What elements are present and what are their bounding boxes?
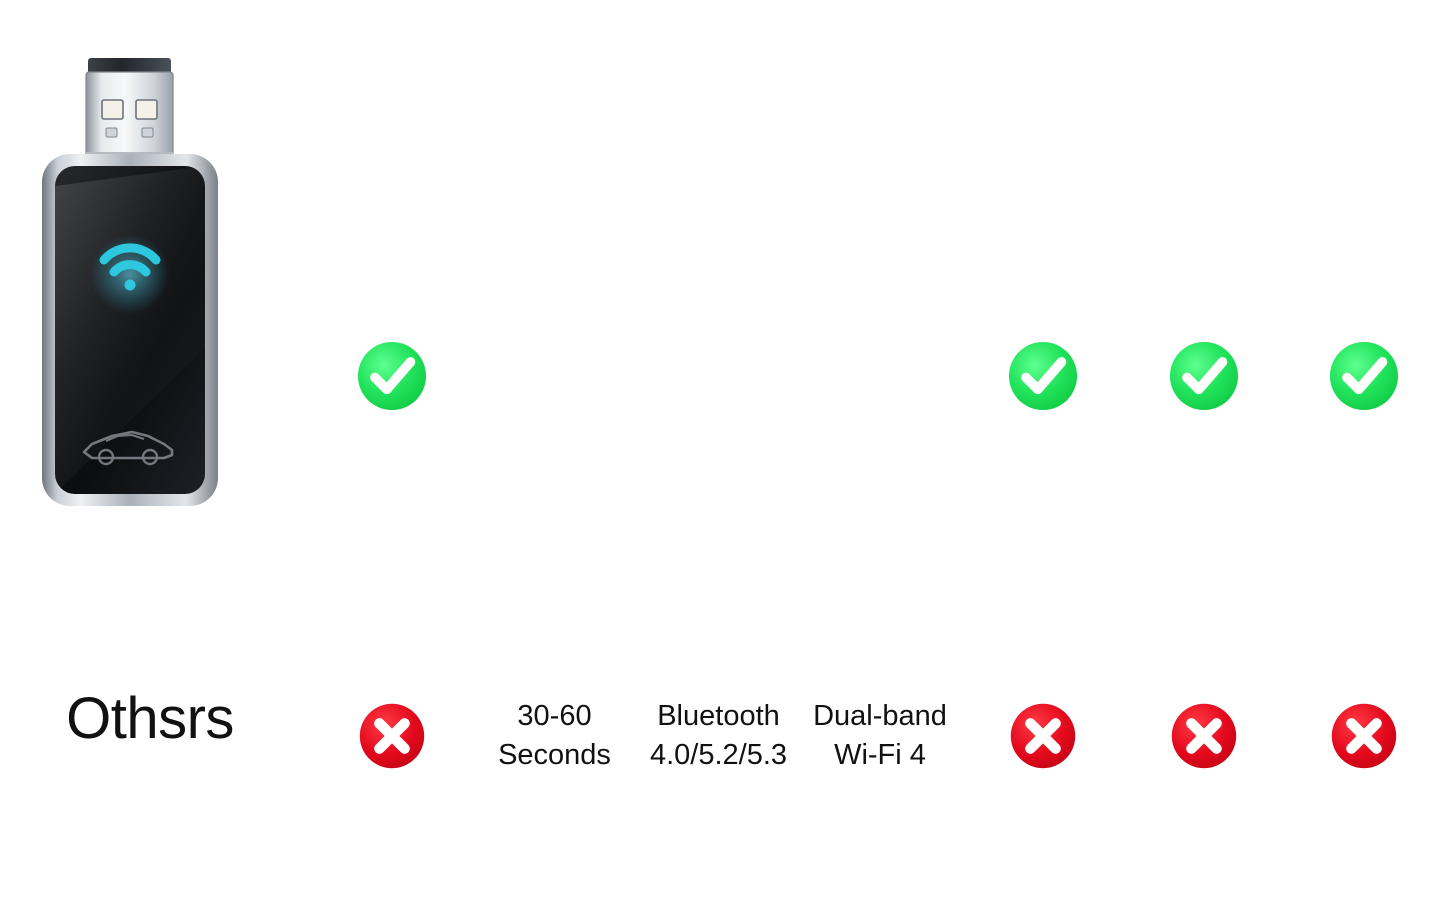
cell-value: Bluetooth 4.0/5.2/5.3	[650, 697, 787, 774]
dongle-body	[42, 154, 218, 506]
check-icon	[1167, 339, 1241, 413]
table-cell-product-connection-time: 5-10 Seconds	[474, 198, 639, 558]
product-image	[0, 30, 313, 530]
comparison-table-page: Othsrs Cooling Connection Time Bluetooth…	[0, 0, 1445, 913]
competitor-label: Othsrs	[0, 690, 300, 748]
column-header-stability: Stability	[1283, 0, 1445, 198]
table-cell-other-bluetooth: Bluetooth 4.0/5.2/5.3	[639, 558, 802, 913]
table-cell-product-stability	[1283, 198, 1445, 558]
comparison-grid: Cooling Connection Time Bluetooth Wi-Fi …	[313, 0, 1445, 913]
table-cell-other-glass	[1128, 558, 1283, 913]
table-cell-other-wifi: Dual-band Wi-Fi 4	[802, 558, 962, 913]
table-cell-product-glass	[1128, 198, 1283, 558]
column-header-bluetooth: Bluetooth	[639, 0, 802, 198]
table-cell-other-cooling	[313, 558, 474, 913]
check-icon	[1327, 339, 1401, 413]
column-header-cooling: Cooling	[313, 0, 474, 198]
cross-icon	[1329, 701, 1399, 771]
cell-value: Dual-band Wi-Fi 6	[808, 318, 952, 435]
cross-icon	[1169, 701, 1239, 771]
usb-plug	[86, 58, 173, 162]
header-label: Connection Time	[471, 60, 638, 133]
table-cell-product-high-quality-metals	[962, 198, 1128, 558]
table-cell-product-cooling	[313, 198, 474, 558]
cross-icon	[1008, 701, 1078, 771]
cell-value: 5-10 Seconds	[491, 337, 617, 415]
column-header-connection-time: Connection Time	[474, 0, 639, 198]
column-header-high-quality-metals: High-Quality Metals	[962, 0, 1128, 198]
product-column: Othsrs	[0, 0, 313, 913]
usb-wifi-carplay-dongle-illustration	[28, 48, 238, 518]
cell-value: Dual Bluetooth 5.4	[648, 318, 790, 435]
cross-icon	[357, 701, 427, 771]
table-cell-other-connection-time: 30-60 Seconds	[474, 558, 639, 913]
header-label: Glass	[1162, 79, 1245, 116]
table-cell-product-bluetooth: Dual Bluetooth 5.4	[639, 198, 802, 558]
column-header-glass: Glass	[1128, 0, 1283, 198]
cell-value: Dual-band Wi-Fi 4	[813, 697, 947, 774]
table-cell-other-high-quality-metals	[962, 558, 1128, 913]
header-label: Wi-Fi	[843, 79, 917, 116]
header-label: Bluetooth	[648, 79, 790, 116]
table-cell-product-wifi: Dual-band Wi-Fi 6	[802, 198, 962, 558]
header-label: High-Quality Metals	[968, 42, 1118, 152]
header-label: Stability	[1305, 79, 1424, 116]
column-header-wifi: Wi-Fi	[802, 0, 962, 198]
wifi-icon	[90, 234, 170, 314]
check-icon	[355, 339, 429, 413]
table-cell-other-stability	[1283, 558, 1445, 913]
cell-value: 30-60 Seconds	[498, 697, 611, 774]
check-icon	[1006, 339, 1080, 413]
header-label: Cooling	[335, 79, 448, 116]
